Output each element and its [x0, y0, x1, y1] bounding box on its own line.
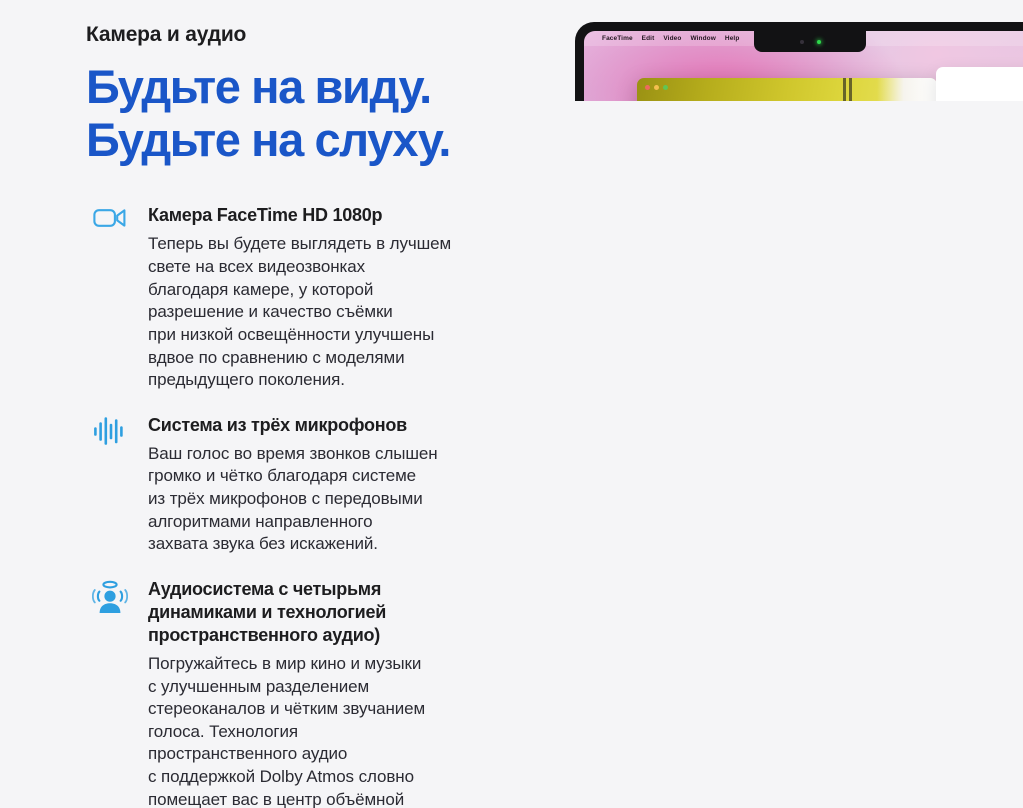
- marketing-page: Камера и аудио Будьте на виду. Будьте на…: [0, 0, 1023, 808]
- page-title: Будьте на виду. Будьте на слуху.: [86, 61, 556, 166]
- section-eyebrow: Камера и аудио: [86, 22, 556, 47]
- feature-title: Система из трёх микрофонов: [148, 414, 488, 437]
- window-traffic-lights[interactable]: [645, 85, 668, 90]
- menubar-item-video[interactable]: Video: [663, 35, 681, 42]
- feature-item-microphones: Система из трёх микрофонов Ваш голос во …: [86, 414, 556, 556]
- macbook-product-image: FaceTime Edit Video Window Help: [575, 22, 1023, 104]
- menubar-item-edit[interactable]: Edit: [642, 35, 655, 42]
- feature-list: Камера FaceTime HD 1080p Теперь вы будет…: [86, 204, 556, 808]
- image-crop-fade: [575, 101, 1023, 104]
- menubar-item-help[interactable]: Help: [725, 35, 740, 42]
- minimize-button[interactable]: [654, 85, 659, 90]
- display-notch: [754, 31, 866, 52]
- feature-body: Теперь вы будете выглядеть в лучшем свет…: [148, 233, 528, 391]
- feature-body: Погружайтесь в мир кино и музыки с улучш…: [148, 653, 528, 808]
- video-camera-icon: [86, 206, 134, 246]
- camera-lens-icon: [800, 40, 804, 44]
- feature-title: Камера FaceTime HD 1080p: [148, 204, 448, 227]
- feature-body: Ваш голос во время звонков слышен громко…: [148, 443, 528, 556]
- maximize-button[interactable]: [663, 85, 668, 90]
- macbook-bezel: FaceTime Edit Video Window Help: [575, 22, 1023, 104]
- feature-title: Аудиосистема с четырьмя динамиками и тех…: [148, 578, 448, 647]
- close-button[interactable]: [645, 85, 650, 90]
- menubar-item-window[interactable]: Window: [690, 35, 715, 42]
- menubar-item-facetime[interactable]: FaceTime: [602, 35, 633, 42]
- headline-line-2: Будьте на слуху.: [86, 114, 556, 167]
- green-camera-indicator-icon: [817, 40, 821, 44]
- headline-line-1: Будьте на виду.: [86, 61, 556, 114]
- macbook-screen: FaceTime Edit Video Window Help: [584, 31, 1023, 104]
- spatial-audio-icon: [86, 580, 134, 620]
- feature-item-spatial-audio: Аудиосистема с четырьмя динамиками и тех…: [86, 578, 556, 808]
- audio-waveform-icon: [86, 416, 134, 456]
- secondary-window-card[interactable]: [936, 67, 1023, 104]
- content-column: Камера и аудио Будьте на виду. Будьте на…: [86, 22, 556, 808]
- feature-item-camera: Камера FaceTime HD 1080p Теперь вы будет…: [86, 204, 556, 391]
